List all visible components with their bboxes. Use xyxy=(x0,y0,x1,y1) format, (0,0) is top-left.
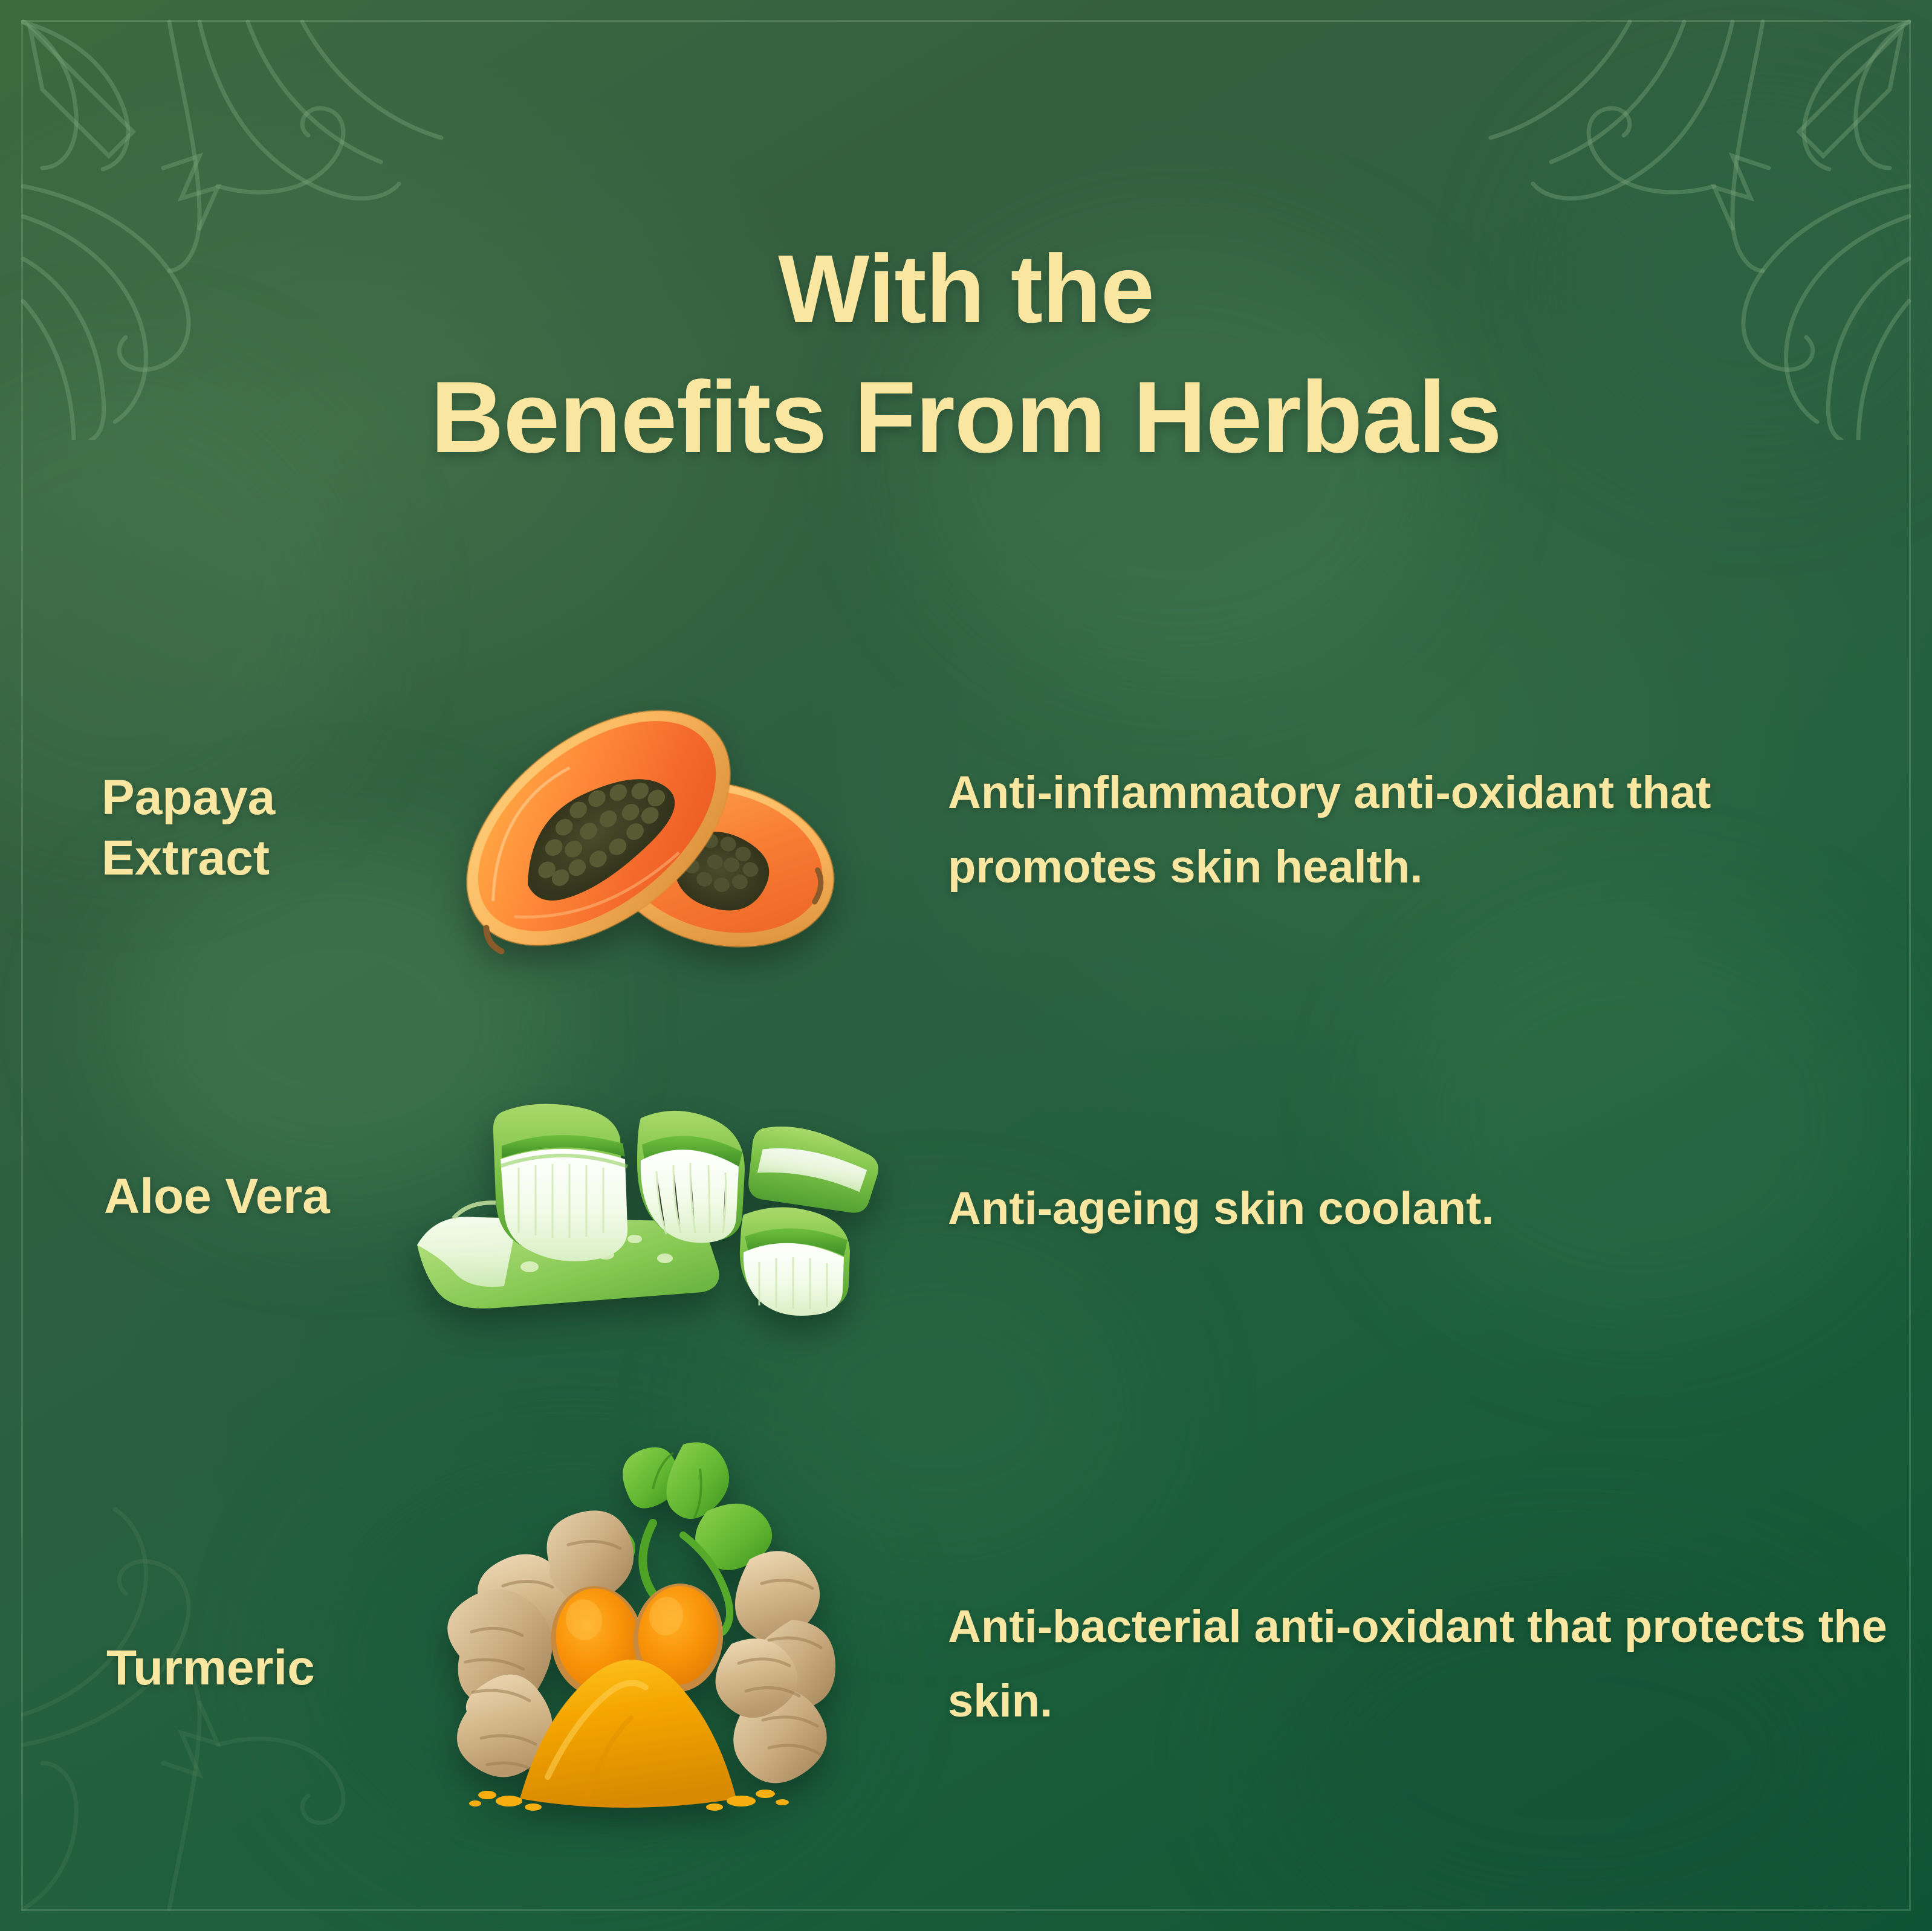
papaya-image xyxy=(417,665,852,985)
ingredient-row-aloe-vera: Aloe Vera xyxy=(0,1070,1932,1408)
aloe-vera-image xyxy=(381,1094,883,1336)
page-title: With the Benefits From Herbals xyxy=(0,241,1932,468)
turmeric-image xyxy=(369,1438,870,1813)
ingredient-description-turmeric: Anti-bacterial anti-oxidant that protect… xyxy=(948,1590,1891,1738)
ingredient-name-papaya: Papaya Extract xyxy=(102,768,275,888)
title-line-2: Benefits From Herbals xyxy=(0,366,1932,468)
ingredient-description-aloe-vera: Anti-ageing skin coolant. xyxy=(948,1171,1494,1246)
ingredient-row-papaya: Papaya Extract xyxy=(0,647,1932,1070)
ingredient-name-turmeric: Turmeric xyxy=(106,1638,315,1698)
ingredient-list: Papaya Extract xyxy=(0,647,1932,1831)
ingredient-description-papaya: Anti-inflammatory anti-oxidant that prom… xyxy=(948,755,1891,904)
title-line-1: With the xyxy=(0,241,1932,337)
ingredient-name-aloe-vera: Aloe Vera xyxy=(104,1166,330,1227)
ingredient-row-turmeric: Turmeric xyxy=(0,1408,1932,1831)
